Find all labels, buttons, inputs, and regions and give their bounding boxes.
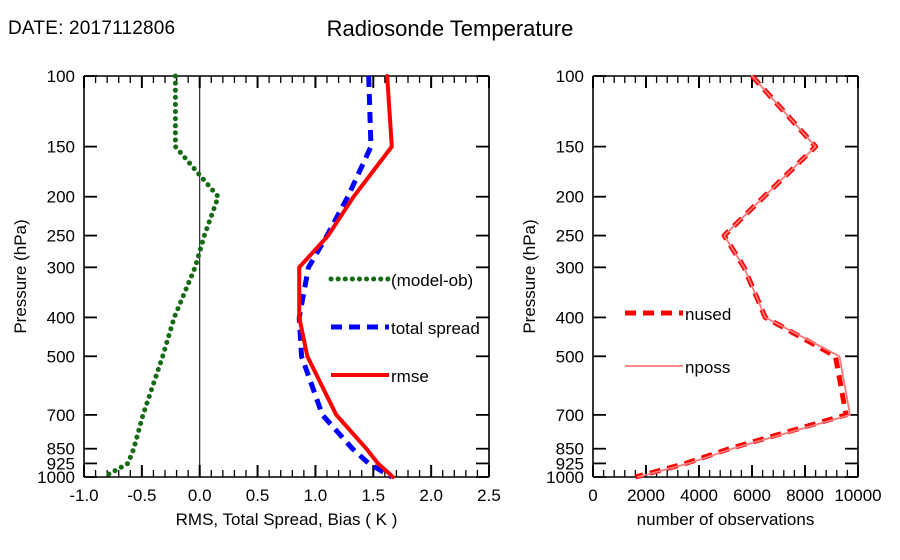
y-tick-label: 100 xyxy=(47,67,75,86)
x-tick-label: 6000 xyxy=(733,486,771,505)
y-tick-label: 300 xyxy=(556,258,584,277)
y-tick-label: 300 xyxy=(47,258,75,277)
x-tick-label: -0.5 xyxy=(127,486,156,505)
y-tick-label: 1000 xyxy=(37,468,75,487)
legend-label-modelob: (model-ob) xyxy=(391,271,473,290)
x-tick-label: 8000 xyxy=(786,486,824,505)
y-tick-label: 700 xyxy=(556,406,584,425)
y-tick-label: 400 xyxy=(47,308,75,327)
y-axis-title: Pressure (hPa) xyxy=(520,219,539,333)
left-legend: (model-ob)total spreadrmse xyxy=(331,271,480,386)
y-tick-label: 400 xyxy=(556,308,584,327)
series-line-rmse xyxy=(299,76,393,477)
x-tick-label: 0 xyxy=(588,486,597,505)
series-line-totalspread xyxy=(299,76,392,477)
y-tick-label: 200 xyxy=(47,188,75,207)
x-tick-label: 2000 xyxy=(627,486,665,505)
y-tick-label: 150 xyxy=(556,138,584,157)
x-tick-label: 10000 xyxy=(834,486,881,505)
panel-left-panel: -1.0-0.50.00.51.01.52.02.5RMS, Total Spr… xyxy=(11,67,501,529)
x-tick-label: 2.5 xyxy=(477,486,501,505)
right-legend: nusednposs xyxy=(625,305,731,377)
x-tick-label: 0.0 xyxy=(188,486,212,505)
x-tick-label: 1.0 xyxy=(304,486,328,505)
x-tick-label: 0.5 xyxy=(246,486,270,505)
y-tick-label: 250 xyxy=(47,227,75,246)
y-tick-label: 100 xyxy=(556,67,584,86)
legend-label-nposs: nposs xyxy=(685,358,730,377)
chart-page: DATE: 2017112806 Radiosonde Temperature … xyxy=(0,0,900,560)
x-tick-label: -1.0 xyxy=(69,486,98,505)
y-tick-label: 250 xyxy=(556,227,584,246)
series-line-modelob xyxy=(104,76,219,477)
x-tick-label: 4000 xyxy=(680,486,718,505)
radiosonde-plots: -1.0-0.50.00.51.01.52.02.5RMS, Total Spr… xyxy=(0,0,900,560)
y-tick-label: 500 xyxy=(47,347,75,366)
y-tick-label: 200 xyxy=(556,188,584,207)
y-tick-label: 500 xyxy=(556,347,584,366)
panel-right-panel: 0200040006000800010000number of observat… xyxy=(520,67,882,529)
x-axis-title: RMS, Total Spread, Bias ( K ) xyxy=(176,510,398,529)
legend-label-nused: nused xyxy=(685,305,731,324)
legend-label-totalspread: total spread xyxy=(391,319,480,338)
legend-label-rmse: rmse xyxy=(391,367,429,386)
y-axis-title: Pressure (hPa) xyxy=(11,219,30,333)
y-tick-label: 150 xyxy=(47,138,75,157)
x-tick-label: 2.0 xyxy=(419,486,443,505)
series-line-nposs xyxy=(638,76,850,477)
y-tick-label: 700 xyxy=(47,406,75,425)
y-tick-label: 1000 xyxy=(546,468,584,487)
x-tick-label: 1.5 xyxy=(361,486,385,505)
series-line-nused xyxy=(635,76,846,477)
x-axis-title: number of observations xyxy=(637,510,815,529)
